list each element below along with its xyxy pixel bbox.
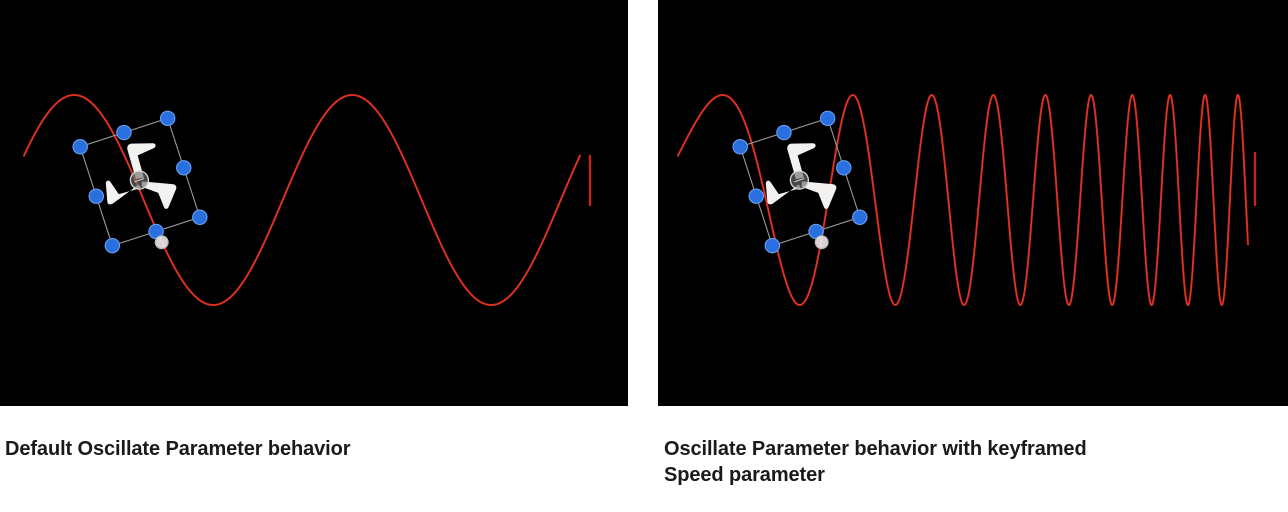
caption-right: Oscillate Parameter behavior with keyfra… (664, 436, 1264, 488)
handle-top-center[interactable] (115, 123, 133, 141)
figure-root: Default Oscillate Parameter behavior Osc… (0, 0, 1288, 512)
caption-left-line-1: Default Oscillate Parameter behavior (5, 436, 605, 462)
handle-top-left[interactable] (731, 138, 749, 156)
selected-object-group[interactable] (731, 109, 872, 265)
right-motion-path-group (678, 95, 1255, 305)
handle-bottom-right[interactable] (191, 208, 209, 226)
motion-path-curve (678, 95, 1248, 305)
default-oscillate-canvas (0, 0, 628, 406)
left-canvas-svg (0, 0, 628, 406)
caption-left: Default Oscillate Parameter behavior (5, 436, 605, 462)
selected-object-group[interactable] (71, 109, 212, 265)
caption-right-line-1: Oscillate Parameter behavior with keyfra… (664, 436, 1264, 462)
handle-middle-left[interactable] (87, 187, 105, 205)
handle-bottom-right[interactable] (851, 208, 869, 226)
handle-bottom-left[interactable] (103, 237, 121, 255)
handle-top-left[interactable] (71, 138, 89, 156)
keyframed-speed-canvas (658, 0, 1288, 406)
caption-right-line-2: Speed parameter (664, 462, 1264, 488)
handle-top-right[interactable] (159, 109, 177, 127)
handle-middle-right[interactable] (835, 159, 853, 177)
right-canvas-svg (658, 0, 1288, 406)
handle-middle-left[interactable] (747, 187, 765, 205)
motion-path-highlight (678, 95, 1248, 305)
handle-top-right[interactable] (819, 109, 837, 127)
handle-top-center[interactable] (775, 123, 793, 141)
handle-middle-right[interactable] (175, 159, 193, 177)
